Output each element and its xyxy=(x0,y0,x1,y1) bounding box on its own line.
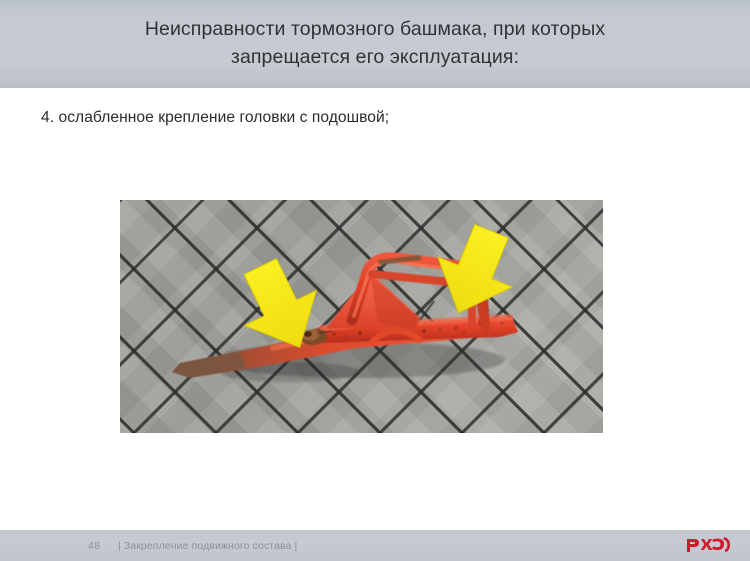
photo-overlay-svg xyxy=(120,200,603,433)
page-title: Неисправности тормозного башмака, при ко… xyxy=(55,15,695,72)
slide-footer: 48 | Закрепление подвижного состава | xyxy=(0,530,750,561)
body-list-item: 4. ослабленное крепление головки с подош… xyxy=(41,109,389,127)
rzd-logo-icon xyxy=(684,534,736,556)
title-line-1: Неисправности тормозного башмака, при ко… xyxy=(55,15,695,43)
photo-content xyxy=(120,200,603,433)
slide-canvas: Неисправности тормозного башмака, при ко… xyxy=(0,0,750,561)
title-line-2: запрещается его эксплуатация: xyxy=(55,43,695,71)
page-number: 48 xyxy=(88,540,100,552)
loose-joint-gap xyxy=(420,301,434,320)
footer-caption: | Закрепление подвижного состава | xyxy=(118,540,297,552)
slide-title-bar: Неисправности тормозного башмака, при ко… xyxy=(0,0,750,88)
brake-shoe-photo xyxy=(120,200,603,433)
